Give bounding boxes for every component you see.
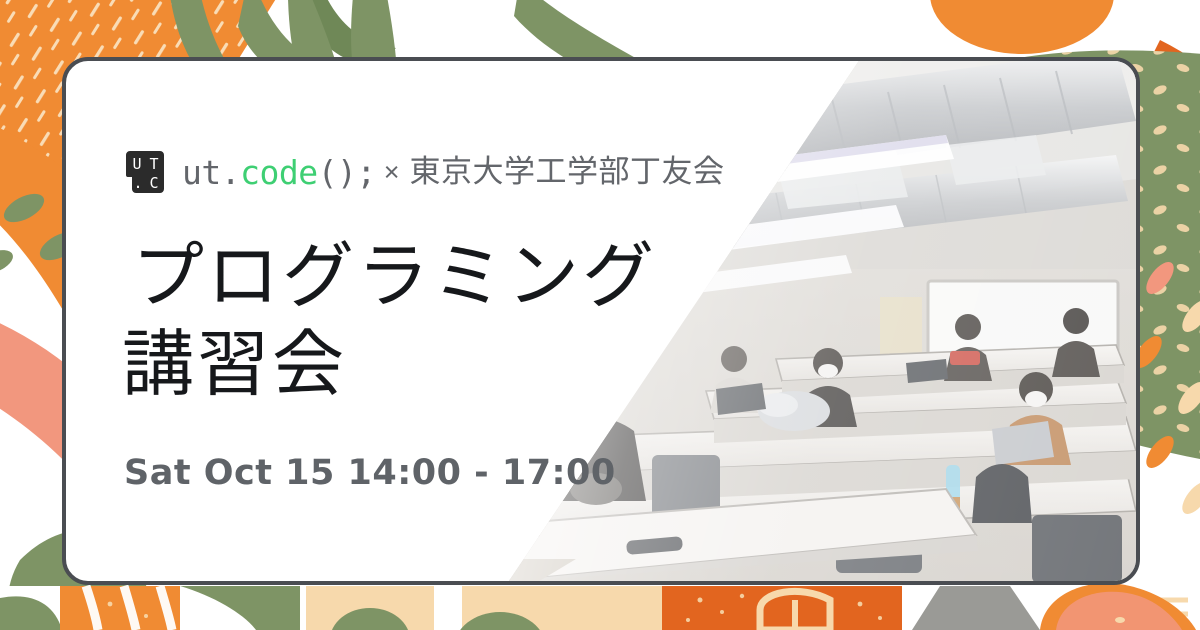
- event-schedule: Sat Oct 15 14:00 - 17:00: [124, 453, 616, 493]
- brand-prefix: ut.: [182, 156, 240, 189]
- organization-name: 東京大学工学部丁友会: [409, 157, 724, 188]
- poster-canvas: U T . C ut. code (); × 東京大学工学部丁友会 プログラミン…: [0, 0, 1200, 630]
- event-title-line-2: 講習会: [122, 321, 682, 409]
- brand-header: U T . C ut. code (); × 東京大学工学部丁友会: [124, 147, 724, 197]
- svg-text:C: C: [149, 174, 158, 192]
- brand-highlight: code: [240, 156, 317, 189]
- card-content: U T . C ut. code (); × 東京大学工学部丁友会 プログラミン…: [66, 61, 686, 581]
- svg-text:U: U: [132, 155, 141, 173]
- brand-suffix: ();: [318, 156, 376, 189]
- svg-text:T: T: [149, 155, 158, 173]
- svg-text:.: .: [133, 174, 142, 192]
- event-title: プログラミング 講習会: [122, 233, 682, 409]
- poster-card: U T . C ut. code (); × 東京大学工学部丁友会 プログラミン…: [62, 57, 1140, 585]
- event-title-line-1: プログラミング: [122, 233, 682, 321]
- utcode-logo-icon: U T . C: [124, 147, 170, 197]
- cross-icon: ×: [384, 159, 400, 186]
